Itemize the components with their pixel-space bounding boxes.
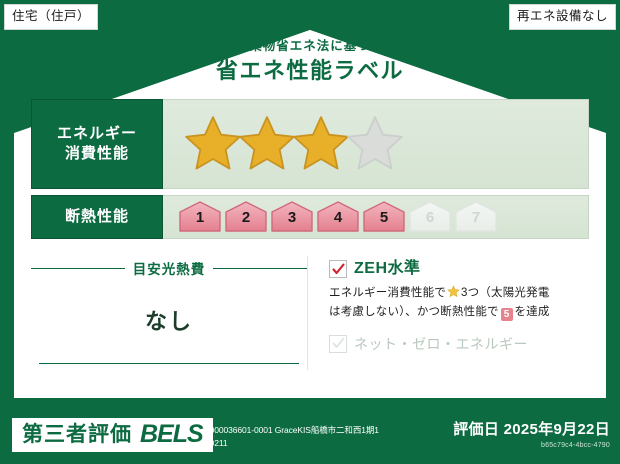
utility-cost-label: 目安光熱費 — [125, 258, 214, 278]
insulation-level-1: 1 — [177, 200, 223, 234]
zeh-desc-part1: エネルギー消費性能で — [329, 287, 446, 299]
star-rating — [181, 113, 397, 175]
heading-rule-right — [213, 268, 307, 269]
net-zero-energy-row: ネット・ゼロ・エネルギー — [329, 335, 589, 353]
insulation-level-number: 3 — [269, 210, 315, 225]
row-energy-performance: エネルギー 消費性能 — [31, 99, 589, 189]
insulation-level-number: 6 — [407, 210, 453, 225]
zeh-desc-part3: は考慮しない）、かつ断熱性能で — [329, 306, 499, 318]
heading-rule-left — [31, 268, 125, 269]
insulation-level-number: 7 — [453, 210, 499, 225]
zeh-box: ZEH水準 エネルギー消費性能で 3つ（太陽光発電 は考慮しない）、かつ断熱性能… — [307, 258, 589, 386]
utility-cost-value: なし — [31, 304, 307, 336]
zeh-checkbox-checked — [329, 260, 347, 278]
insulation-level-4: 4 — [315, 200, 361, 234]
bels-plate: 第三者評価 BELS — [12, 418, 213, 452]
evaluation-date-label: 評価日 — [453, 421, 499, 438]
footer: 第三者評価 BELS 0000036601-0001 GraceKIS船橋市二和… — [0, 408, 620, 464]
insulation-grade-badge: 5 — [501, 308, 513, 321]
bels-jp-label: 第三者評価 — [22, 424, 132, 445]
utility-cost-heading: 目安光熱費 — [31, 258, 307, 278]
label-title: 建築物省エネ法に基づく 省エネ性能ラベル — [0, 40, 620, 82]
insulation-level-number: 4 — [315, 210, 361, 225]
badge-building-type: 住宅（住戸） — [4, 4, 98, 30]
star-filled-icon — [235, 113, 293, 175]
row-energy-label: エネルギー 消費性能 — [31, 99, 163, 189]
badge-renewable-equipment: 再エネ設備なし — [509, 4, 616, 30]
bels-label-root: 住宅（住戸） 再エネ設備なし 建築物省エネ法に基づく 省エネ性能ラベル エネルギ… — [0, 0, 620, 464]
bottom-section: 目安光熱費 なし ZEH水準 エネルギー消費性能で — [31, 258, 589, 386]
zeh-desc-part2: 3つ（太陽光発電 — [461, 287, 550, 299]
insulation-level-5: 5 — [361, 200, 407, 234]
inline-star-icon — [447, 285, 460, 304]
zeh-standard-label: ZEH水準 — [354, 261, 421, 277]
insulation-level-number: 5 — [361, 210, 407, 225]
row-energy-label-line2: 消費性能 — [65, 145, 129, 162]
net-zero-checkbox-unchecked — [329, 335, 347, 353]
star-filled-icon — [289, 113, 347, 175]
bels-logo-text: BELS — [140, 422, 203, 447]
utility-cost-bottom-rule — [39, 363, 299, 364]
title-subtitle: 建築物省エネ法に基づく — [0, 40, 620, 53]
performance-rows: エネルギー 消費性能 断熱性能 1234567 — [31, 99, 589, 245]
certificate-id: 0000036601-0001 GraceKIS船橋市二和西1期1 00211 — [205, 424, 455, 450]
row-insulation-label: 断熱性能 — [31, 195, 163, 239]
evaluation-date-value: 2025年9月22日 — [504, 421, 610, 438]
insulation-level-scale: 1234567 — [177, 200, 498, 234]
net-zero-label: ネット・ゼロ・エネルギー — [354, 337, 528, 351]
certificate-id-line1: 0000036601-0001 GraceKIS船橋市二和西1期1 — [205, 424, 455, 437]
utility-cost-box: 目安光熱費 なし — [31, 258, 307, 386]
insulation-level-number: 2 — [223, 210, 269, 225]
insulation-level-2: 2 — [223, 200, 269, 234]
star-empty-icon — [343, 113, 401, 175]
evaluation-date: 評価日 2025年9月22日 — [453, 422, 610, 437]
row-energy-value — [163, 99, 589, 189]
zeh-standard-row: ZEH水準 — [329, 260, 589, 278]
zeh-description: エネルギー消費性能で 3つ（太陽光発電 は考慮しない）、かつ断熱性能で5を達成 — [329, 285, 589, 321]
insulation-level-7: 7 — [453, 200, 499, 234]
insulation-level-6: 6 — [407, 200, 453, 234]
insulation-level-number: 1 — [177, 210, 223, 225]
row-insulation-value: 1234567 — [163, 195, 589, 239]
title-main: 省エネ性能ラベル — [0, 60, 620, 82]
certificate-id-line2: 00211 — [205, 437, 455, 450]
row-energy-label-line1: エネルギー — [57, 125, 137, 142]
insulation-level-3: 3 — [269, 200, 315, 234]
row-insulation-performance: 断熱性能 1234567 — [31, 195, 589, 239]
star-filled-icon — [181, 113, 239, 175]
evaluation-date-block: 評価日 2025年9月22日 b65c79c4-4bcc-4790 — [453, 422, 610, 449]
evaluation-hash: b65c79c4-4bcc-4790 — [453, 442, 610, 449]
zeh-desc-part4: を達成 — [515, 306, 550, 318]
